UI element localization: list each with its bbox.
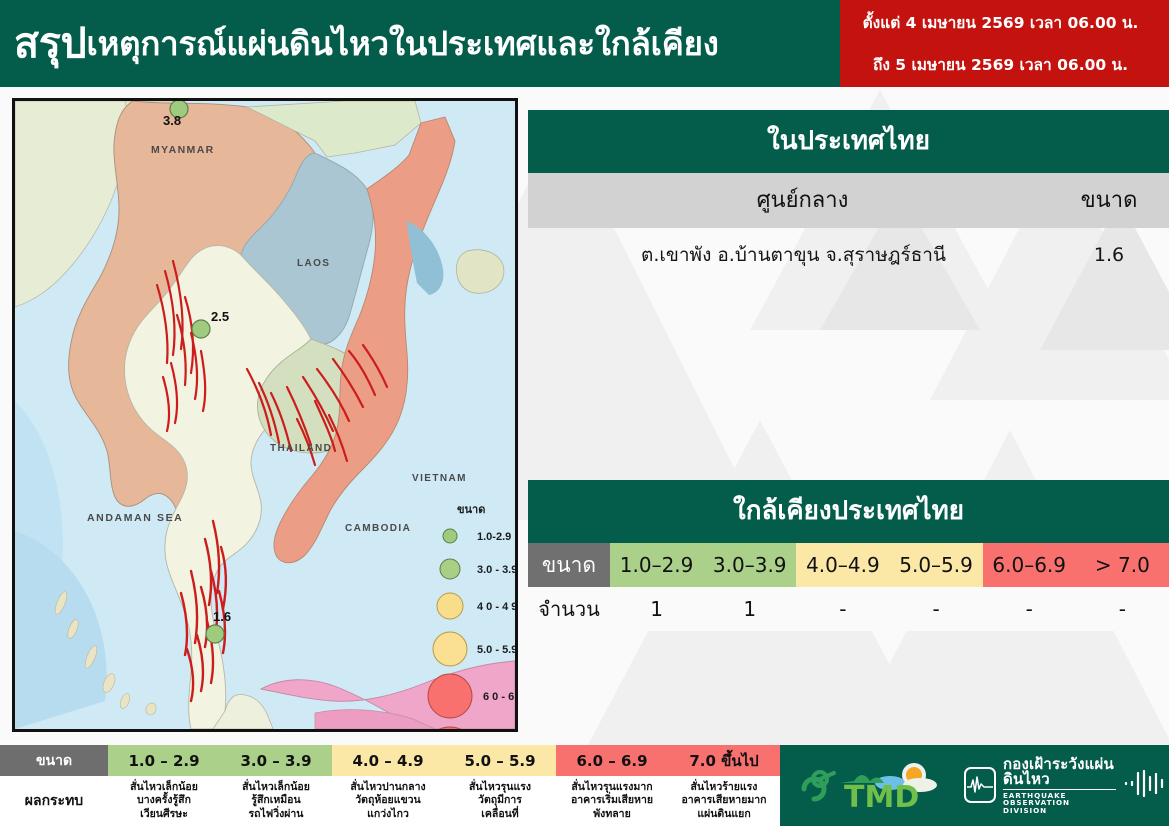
column-header-magnitude: ขนาด — [1049, 182, 1169, 217]
page-header: สรุปเหตุการณ์แผ่นดินไหวในประเทศและใกล้เค… — [0, 0, 1169, 87]
panel-spacer — [528, 284, 1169, 480]
svg-text:1.6: 1.6 — [213, 609, 231, 624]
bucket-count-0: 1 — [610, 587, 703, 631]
svg-text:6 0 - 6 9: 6 0 - 6 9 — [483, 691, 515, 703]
tmd-emblem-icon — [804, 772, 834, 799]
row-label-count: จำนวน — [528, 587, 610, 631]
legend-range-2: 4.0 – 4.9 — [332, 745, 444, 776]
section-header-near-thailand: ใกล้เคียงประเทศไทย — [528, 480, 1169, 543]
bucket-range-1: 3.0–3.9 — [703, 543, 796, 587]
legend-effect-5: สั่นไหวร้ายแรงอาคารเสียหายมากแผ่นดินแยก — [668, 776, 780, 826]
bucket-range-3: 5.0–5.9 — [889, 543, 982, 587]
magnitude-count-row: จำนวน 1 1 - - - - — [528, 587, 1169, 631]
bucket-count-1: 1 — [703, 587, 796, 631]
svg-text:CAMBODIA: CAMBODIA — [345, 523, 411, 534]
earthquake-map[interactable]: MYANMAR LAOS THAILAND VIETNAM CAMBODIA A… — [12, 98, 518, 732]
title-rest: เหตุการณ์แผ่นดินไหวในประเทศและใกล้เคียง — [86, 27, 718, 61]
legend-range-3: 5.0 – 5.9 — [444, 745, 556, 776]
waveform-icon — [1123, 768, 1169, 802]
bottom-legend-bar: ขนาด 1.0 – 2.9 3.0 – 3.9 4.0 – 4.9 5.0 –… — [0, 745, 1169, 826]
legend-label-magnitude: ขนาด — [0, 745, 108, 776]
legend-effect-2: สั่นไหวปานกลางวัตถุห้อยแขวนแกว่งไกว — [332, 776, 444, 826]
division-name-th: กองเฝ้าระวังแผ่นดินไหว — [1003, 757, 1116, 787]
summary-tables: ในประเทศไทย ศูนย์กลาง ขนาด ต.เขาพัง อ.บ้… — [528, 110, 1169, 631]
division-name-block: กองเฝ้าระวังแผ่นดินไหว EARTHQUAKE OBSERV… — [1003, 757, 1116, 814]
header-title-block: สรุปเหตุการณ์แผ่นดินไหวในประเทศและใกล้เค… — [0, 0, 840, 87]
legend-range-5: 7.0 ขึ้นไป — [668, 745, 780, 776]
seismograph-icon — [964, 767, 996, 803]
bucket-count-2: - — [796, 587, 889, 631]
in-thailand-table-header: ศูนย์กลาง ขนาด — [528, 173, 1169, 228]
svg-text:3.8: 3.8 — [163, 113, 181, 128]
legend-effect-1: สั่นไหวเล็กน้อยรู้สึกเหมือนรถไฟวิ่งผ่าน — [220, 776, 332, 826]
svg-text:4 0 - 4 9: 4 0 - 4 9 — [477, 601, 515, 613]
svg-text:LAOS: LAOS — [297, 258, 330, 269]
legend-range-1: 3.0 – 3.9 — [220, 745, 332, 776]
svg-text:1.0-2.9: 1.0-2.9 — [477, 531, 511, 543]
svg-text:2.5: 2.5 — [211, 309, 229, 324]
bucket-range-4: 6.0–6.9 — [983, 543, 1076, 587]
date-from: ตั้งแต่ 4 เมษายน 2569 เวลา 06.00 น. — [863, 10, 1139, 35]
division-name-en: EARTHQUAKE OBSERVATION DIVISION — [1003, 789, 1116, 814]
legend-range-row: ขนาด 1.0 – 2.9 3.0 – 3.9 4.0 – 4.9 5.0 –… — [0, 745, 780, 776]
cell-magnitude: 1.6 — [1049, 244, 1169, 266]
magnitude-effect-legend: ขนาด 1.0 – 2.9 3.0 – 3.9 4.0 – 4.9 5.0 –… — [0, 745, 780, 826]
legend-effect-0: สั่นไหวเล็กน้อยบางครั้งรู้สึกเวียนศีรษะ — [108, 776, 220, 826]
title-bold: สรุป — [14, 23, 86, 65]
bucket-count-4: - — [983, 587, 1076, 631]
brand-logo-bar: TMD กองเฝ้าระวังแผ่นดินไหว EARTHQUAKE OB… — [780, 745, 1169, 826]
column-header-epicenter: ศูนย์กลาง — [528, 182, 1049, 217]
bucket-count-3: - — [889, 587, 982, 631]
header-date-range: ตั้งแต่ 4 เมษายน 2569 เวลา 06.00 น. ถึง … — [840, 0, 1169, 87]
legend-effect-4: สั่นไหวรุนแรงมากอาคารเริ่มเสียหายพังทลาย — [556, 776, 668, 826]
svg-text:ขนาด: ขนาด — [457, 504, 485, 516]
magnitude-range-row: ขนาด 1.0–2.9 3.0–3.9 4.0–4.9 5.0–5.9 6.0… — [528, 543, 1169, 587]
bucket-count-5: - — [1076, 587, 1169, 631]
cell-epicenter: ต.เขาพัง อ.บ้านตาขุน จ.สุราษฎร์ธานี — [528, 240, 1049, 270]
legend-effect-row: ผลกระทบ สั่นไหวเล็กน้อยบางครั้งรู้สึกเวี… — [0, 776, 780, 826]
bucket-range-5: > 7.0 — [1076, 543, 1169, 587]
near-thailand-magnitude-table: ขนาด 1.0–2.9 3.0–3.9 4.0–4.9 5.0–5.9 6.0… — [528, 543, 1169, 631]
table-row[interactable]: ต.เขาพัง อ.บ้านตาขุน จ.สุราษฎร์ธานี 1.6 — [528, 228, 1169, 284]
legend-range-4: 6.0 – 6.9 — [556, 745, 668, 776]
bucket-range-2: 4.0–4.9 — [796, 543, 889, 587]
legend-effect-3: สั่นไหวรุนแรงวัตถุมีการเคลื่อนที่ — [444, 776, 556, 826]
svg-text:THAILAND: THAILAND — [270, 443, 332, 454]
legend-range-0: 1.0 – 2.9 — [108, 745, 220, 776]
date-to: ถึง 5 เมษายน 2569 เวลา 06.00 น. — [873, 52, 1128, 77]
row-label-magnitude: ขนาด — [528, 543, 610, 587]
earthquake-summary-infographic: สรุปเหตุการณ์แผ่นดินไหวในประเทศและใกล้เค… — [0, 0, 1169, 826]
svg-text:TMD: TMD — [844, 780, 919, 813]
bucket-range-0: 1.0–2.9 — [610, 543, 703, 587]
svg-text:ANDAMAN SEA: ANDAMAN SEA — [87, 512, 183, 524]
svg-text:VIETNAM: VIETNAM — [412, 473, 467, 484]
svg-text:5.0 - 5.9: 5.0 - 5.9 — [477, 644, 515, 656]
svg-text:3.0 - 3.9: 3.0 - 3.9 — [477, 564, 515, 576]
tmd-logo: TMD — [794, 759, 954, 813]
legend-label-effect: ผลกระทบ — [0, 776, 108, 826]
section-header-in-thailand: ในประเทศไทย — [528, 110, 1169, 173]
earthquake-observation-division-logo: กองเฝ้าระวังแผ่นดินไหว EARTHQUAKE OBSERV… — [964, 757, 1169, 814]
svg-text:MYANMAR: MYANMAR — [151, 144, 215, 156]
